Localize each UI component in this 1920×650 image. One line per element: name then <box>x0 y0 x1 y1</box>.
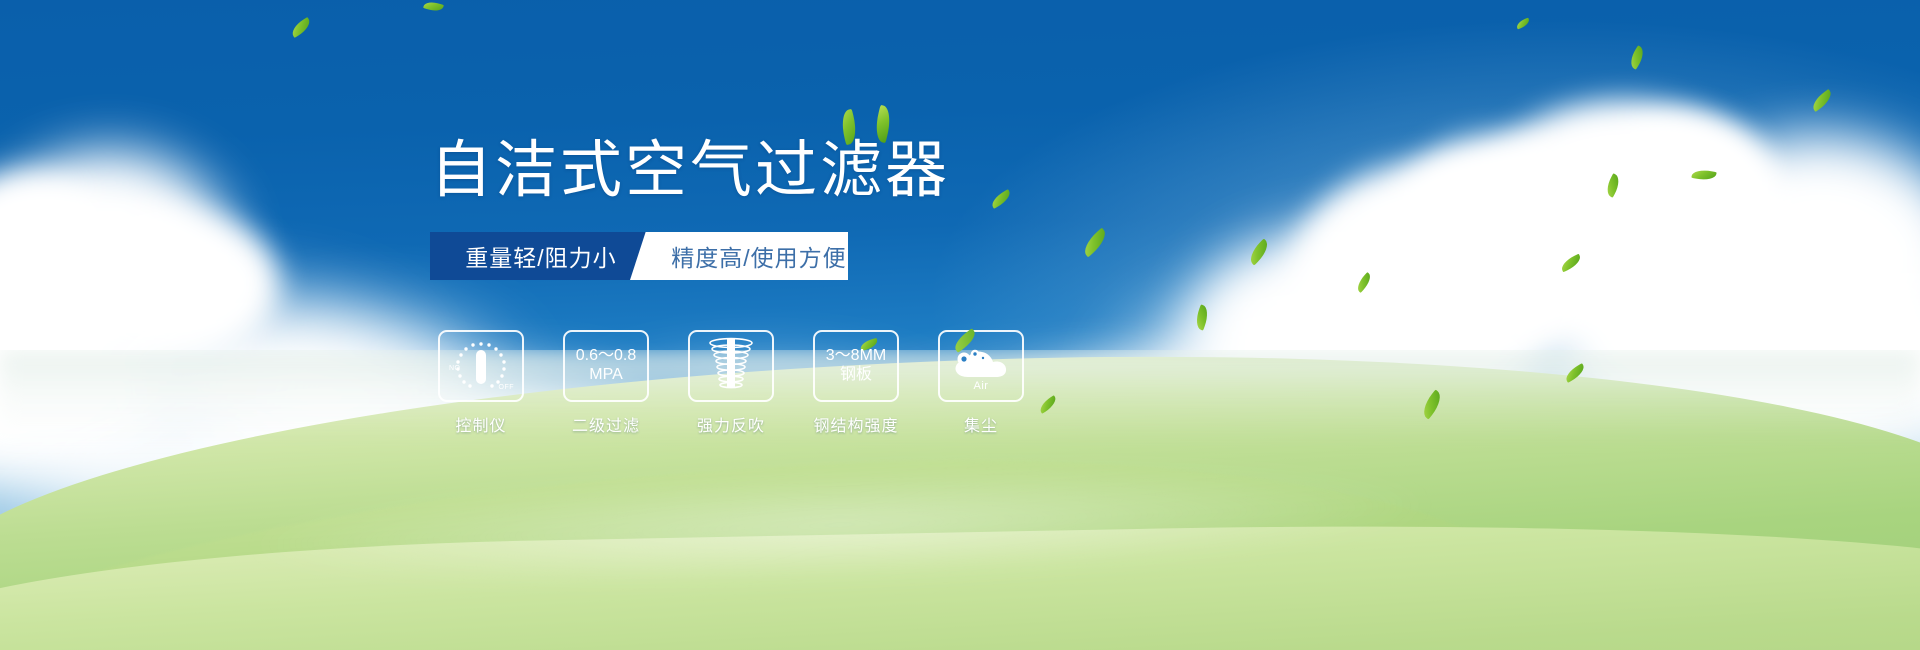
filter-coil-icon <box>705 336 757 397</box>
pressure-value-line2: MPA <box>589 366 622 385</box>
page-title: 自洁式空气过滤器 <box>430 140 950 202</box>
feature-label-control: 控制仪 <box>455 412 506 436</box>
feature-box-pressure: 0.6～0.8 MPA <box>563 330 649 402</box>
air-label: Air <box>948 380 1014 392</box>
feature-item-blowback[interactable]: 强力反吹 <box>688 330 774 436</box>
feature-item-pressure[interactable]: 0.6～0.8 MPA 二级过滤 <box>563 330 649 436</box>
subtitle-secondary-label: 精度高/使用方便 <box>671 239 846 273</box>
feature-label-pressure: 二级过滤 <box>572 412 640 436</box>
feature-item-dust[interactable]: Air 集尘 <box>938 330 1024 436</box>
dial-off-label: OFF <box>499 384 515 391</box>
steel-value-line2: 钢板 <box>840 366 872 385</box>
feature-item-steel[interactable]: 3～8MM 钢板 钢结构强度 <box>813 330 899 436</box>
feature-label-dust: 集尘 <box>964 412 998 436</box>
feature-box-control: NO OFF <box>438 330 524 402</box>
banner-content: 自洁式空气过滤器 重量轻/阻力小 精度高/使用方便 <box>0 0 1920 650</box>
air-cloud-icon: Air <box>948 339 1014 393</box>
dial-on-label: NO <box>449 365 461 372</box>
pressure-value-line1: 0.6～0.8 <box>576 347 637 366</box>
steel-value-line1: 3～8MM <box>826 347 886 366</box>
feature-box-dust: Air <box>938 330 1024 402</box>
feature-item-control[interactable]: NO OFF 控制仪 <box>438 330 524 436</box>
feature-label-blowback: 强力反吹 <box>697 412 765 436</box>
feature-icon-row: NO OFF 控制仪 0.6～0.8 MPA 二级过滤 <box>438 330 1024 436</box>
subtitle-primary-label: 重量轻/阻力小 <box>465 239 616 273</box>
subtitle-pill-secondary: 精度高/使用方便 <box>670 232 848 280</box>
feature-box-blowback <box>688 330 774 402</box>
subtitle-pill-primary: 重量轻/阻力小 <box>430 232 652 280</box>
feature-box-steel: 3～8MM 钢板 <box>813 330 899 402</box>
control-dial-icon: NO OFF <box>450 338 512 394</box>
feature-label-steel: 钢结构强度 <box>813 412 898 436</box>
hero-banner: 自洁式空气过滤器 重量轻/阻力小 精度高/使用方便 <box>0 0 1920 650</box>
